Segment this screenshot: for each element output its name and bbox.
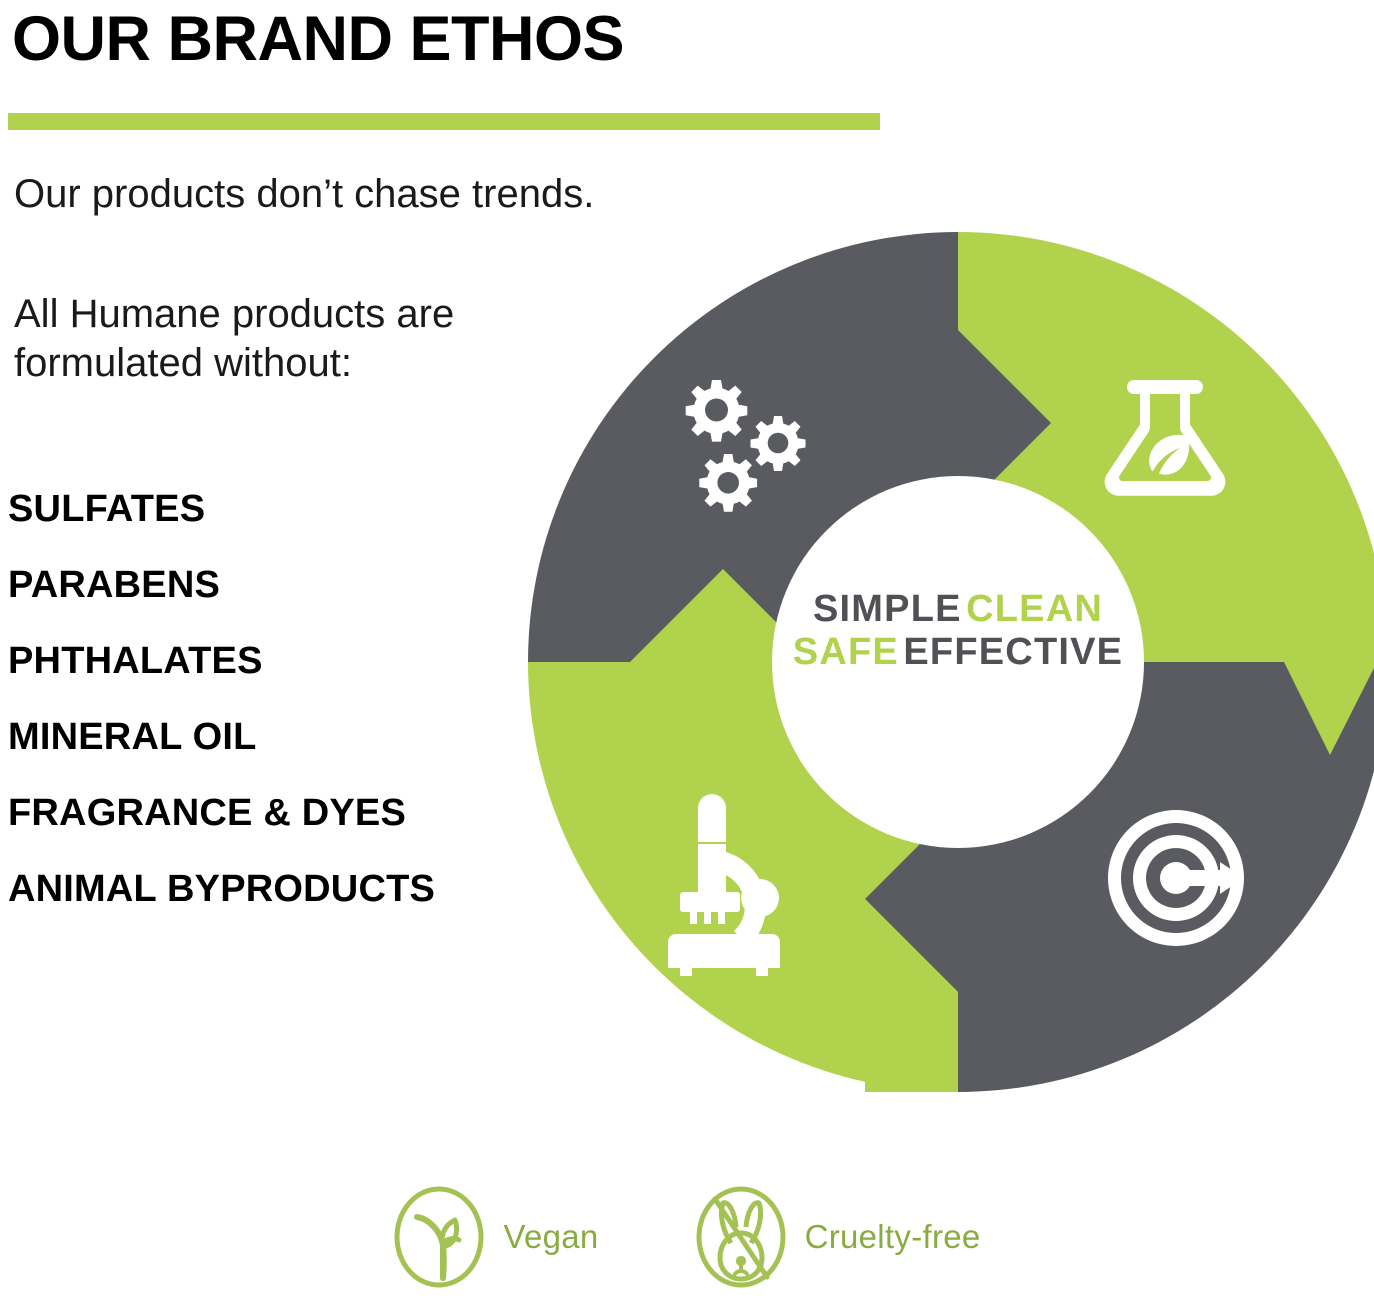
brand-ethos-cycle-donut-chart [518, 222, 1374, 1102]
badge-label: Vegan [503, 1218, 598, 1256]
donut-segment-clean [958, 232, 1374, 727]
badge-vegan: Vegan [393, 1185, 598, 1289]
rabbit-no-icon [695, 1185, 787, 1289]
badge-label: Cruelty-free [805, 1218, 981, 1256]
header: OUR BRAND ETHOS Our products don’t chase… [8, 0, 908, 216]
page-title: OUR BRAND ETHOS [12, 8, 908, 71]
title-underline-rule [8, 113, 880, 130]
header-subtitle: Our products don’t chase trends. [14, 172, 908, 216]
badge-cruelty-free: Cruelty-free [695, 1185, 981, 1289]
vegan-sprout-icon [393, 1185, 485, 1289]
certification-badges: Vegan Cruelty-free [0, 1185, 1374, 1289]
